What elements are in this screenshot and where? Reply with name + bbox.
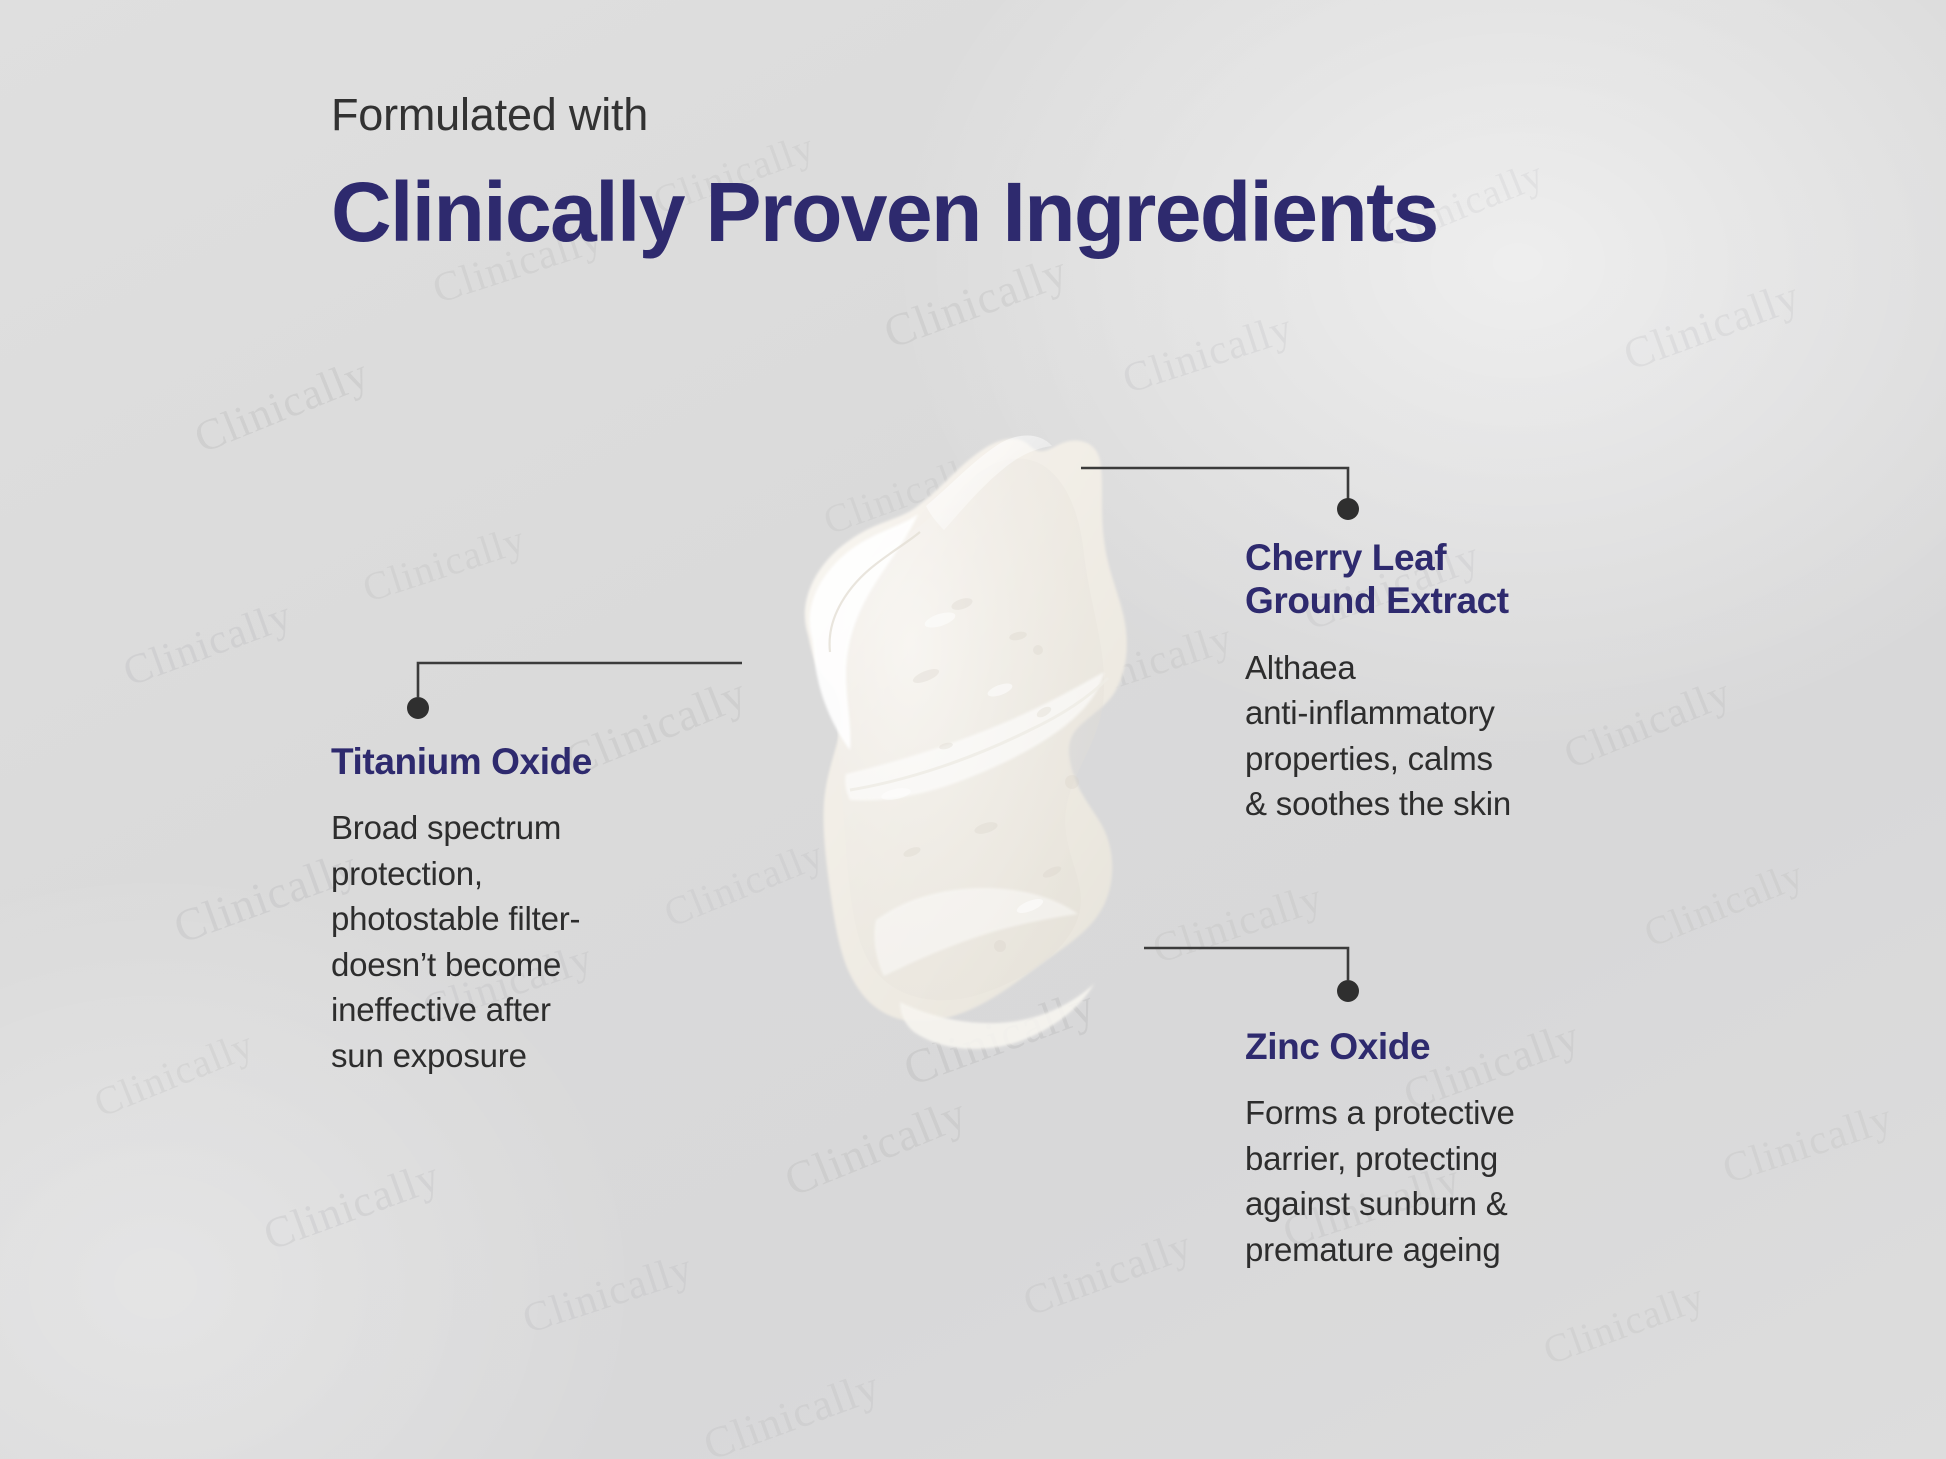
watermark-text: Clinically [777, 1086, 974, 1207]
watermark-text: Clinically [1117, 304, 1299, 404]
callout-description-cherry: Althaeaanti-inflammatoryproperties, calm… [1245, 645, 1595, 827]
callout-zinc-oxide: Zinc Oxide Forms a protectivebarrier, pr… [1245, 1025, 1605, 1272]
watermark-text: Clinically [257, 1150, 447, 1261]
watermark-text: Clinically [1637, 850, 1810, 956]
callout-titanium-oxide: Titanium Oxide Broad spectrumprotection,… [331, 740, 691, 1078]
watermark-text: Clinically [187, 347, 376, 463]
page-title: Clinically Proven Ingredients [331, 168, 1438, 257]
watermark-text: Clinically [87, 1020, 260, 1126]
leader-dot-titanium [407, 697, 429, 719]
leader-dot-zinc [1337, 980, 1359, 1002]
watermark-text: Clinically [1717, 1094, 1899, 1194]
callout-title-cherry: Cherry LeafGround Extract [1245, 536, 1595, 623]
watermark-text: Clinically [697, 1360, 887, 1459]
watermark-text: Clinically [517, 1244, 699, 1344]
callout-cherry-leaf: Cherry LeafGround Extract Althaeaanti-in… [1245, 536, 1595, 827]
callout-title-zinc: Zinc Oxide [1245, 1025, 1605, 1068]
watermark-text: Clinically [1537, 1273, 1711, 1375]
callout-description-titanium: Broad spectrumprotection,photostable fil… [331, 805, 691, 1078]
callout-title-titanium: Titanium Oxide [331, 740, 691, 783]
watermark-text: Clinically [357, 515, 531, 612]
watermark-text: Clinically [877, 244, 1075, 359]
product-cream-swatch [700, 390, 1220, 1090]
callout-description-zinc: Forms a protectivebarrier, protectingaga… [1245, 1090, 1605, 1272]
watermark-text: Clinically [1617, 270, 1807, 381]
watermark-text: Clinically [1017, 1221, 1198, 1326]
leader-dot-cherry [1337, 498, 1359, 520]
leader-line-titanium [418, 663, 742, 697]
eyebrow-text: Formulated with [331, 92, 648, 137]
watermark-text: Clinically [117, 591, 298, 696]
infographic-canvas: ClinicallyClinicallyClinicallyClinically… [0, 0, 1946, 1459]
